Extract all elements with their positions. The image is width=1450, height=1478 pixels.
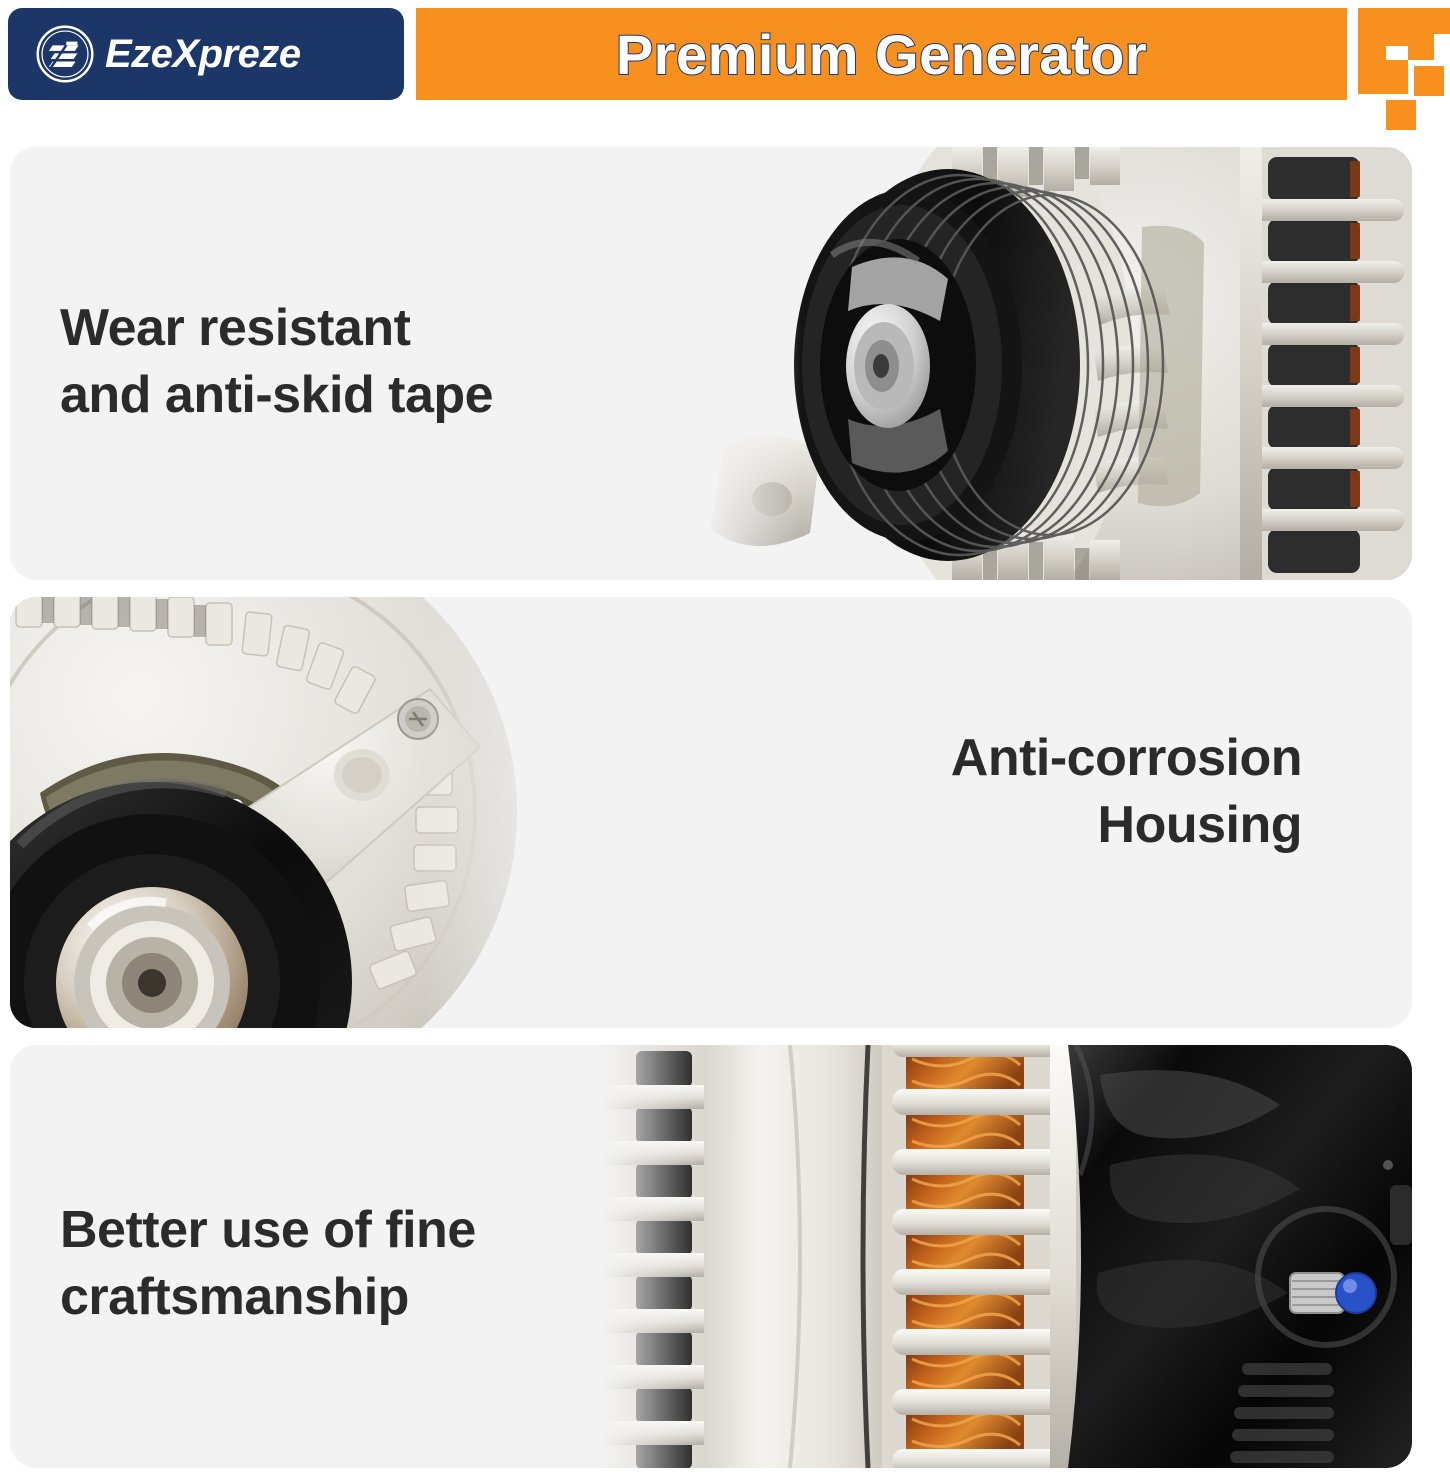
page-title: Premium Generator [616, 22, 1147, 87]
page-header: EzeXpreze Premium Generator [0, 0, 1450, 140]
panel-3-line-1: Better use of fine [60, 1197, 476, 1264]
panel-1-line-1: Wear resistant [60, 295, 493, 362]
panel-2-caption: Anti-corrosion Housing [951, 725, 1302, 858]
panel-2-line-1: Anti-corrosion [951, 725, 1302, 792]
alternator-housing-angled-photo [10, 597, 570, 1028]
alternator-pulley-closeup-photo [702, 147, 1412, 580]
feature-panel-wear-resistant: Wear resistant and anti-skid tape [10, 147, 1412, 580]
brand-name-text: EzeXpreze [105, 32, 301, 77]
ez-circle-logo-icon [34, 23, 96, 85]
panel-2-line-2: Housing [951, 792, 1302, 859]
panel-3-caption: Better use of fine craftsmanship [60, 1197, 476, 1330]
orange-pixel-steps-icon [1358, 4, 1450, 134]
panel-1-caption: Wear resistant and anti-skid tape [60, 295, 493, 428]
panel-3-line-2: craftsmanship [60, 1264, 476, 1331]
premium-generator-title-bar: Premium Generator [416, 8, 1347, 100]
alternator-copper-windings-photo [600, 1045, 1412, 1468]
feature-panel-craftsmanship: Better use of fine craftsmanship [10, 1045, 1412, 1468]
panel-1-line-2: and anti-skid tape [60, 362, 493, 429]
feature-panel-anti-corrosion: Anti-corrosion Housing [10, 597, 1412, 1028]
brand-logo-box: EzeXpreze [8, 8, 404, 100]
